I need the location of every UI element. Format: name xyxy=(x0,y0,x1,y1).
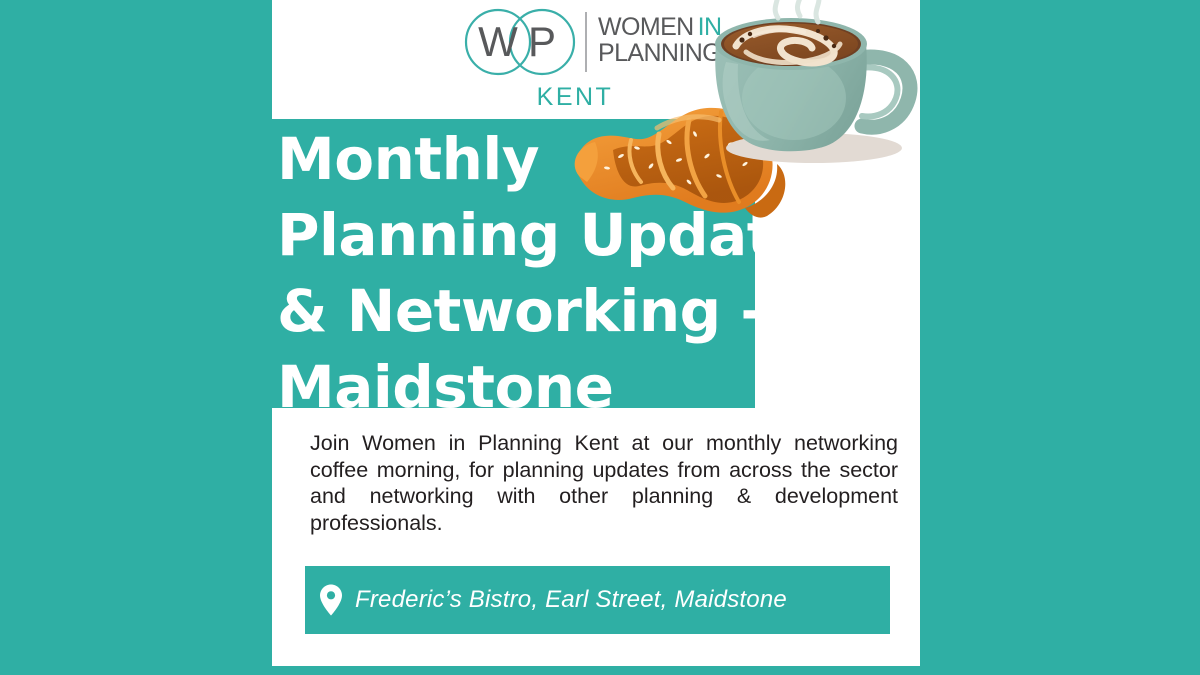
logo-wordmark-planning: PLANNING xyxy=(598,40,721,66)
women-in-planning-logo: W P WOMENIN PLANNING xyxy=(450,8,700,76)
title-block: Monthly Planning Update & Networking - M… xyxy=(272,119,755,408)
logo-wordmark-women: WOMEN xyxy=(598,13,694,41)
logo-region-kent: KENT xyxy=(450,82,700,112)
logo-header: W P WOMENIN PLANNING KENT xyxy=(272,0,920,119)
logo-wordmark-in: IN xyxy=(698,13,722,41)
poster-card: W P WOMENIN PLANNING KENT Monthly Planni… xyxy=(272,0,920,666)
page-title: Monthly Planning Update & Networking - M… xyxy=(277,121,897,425)
location-bar: Frederic’s Bistro, Earl Street, Maidston… xyxy=(305,566,890,634)
map-pin-icon xyxy=(319,584,343,616)
svg-text:P: P xyxy=(528,18,556,65)
venue-text: Frederic’s Bistro, Earl Street, Maidston… xyxy=(355,586,787,614)
event-poster: W P WOMENIN PLANNING KENT Monthly Planni… xyxy=(0,0,1200,675)
event-description: Join Women in Planning Kent at our month… xyxy=(310,430,898,536)
svg-text:W: W xyxy=(478,18,518,65)
